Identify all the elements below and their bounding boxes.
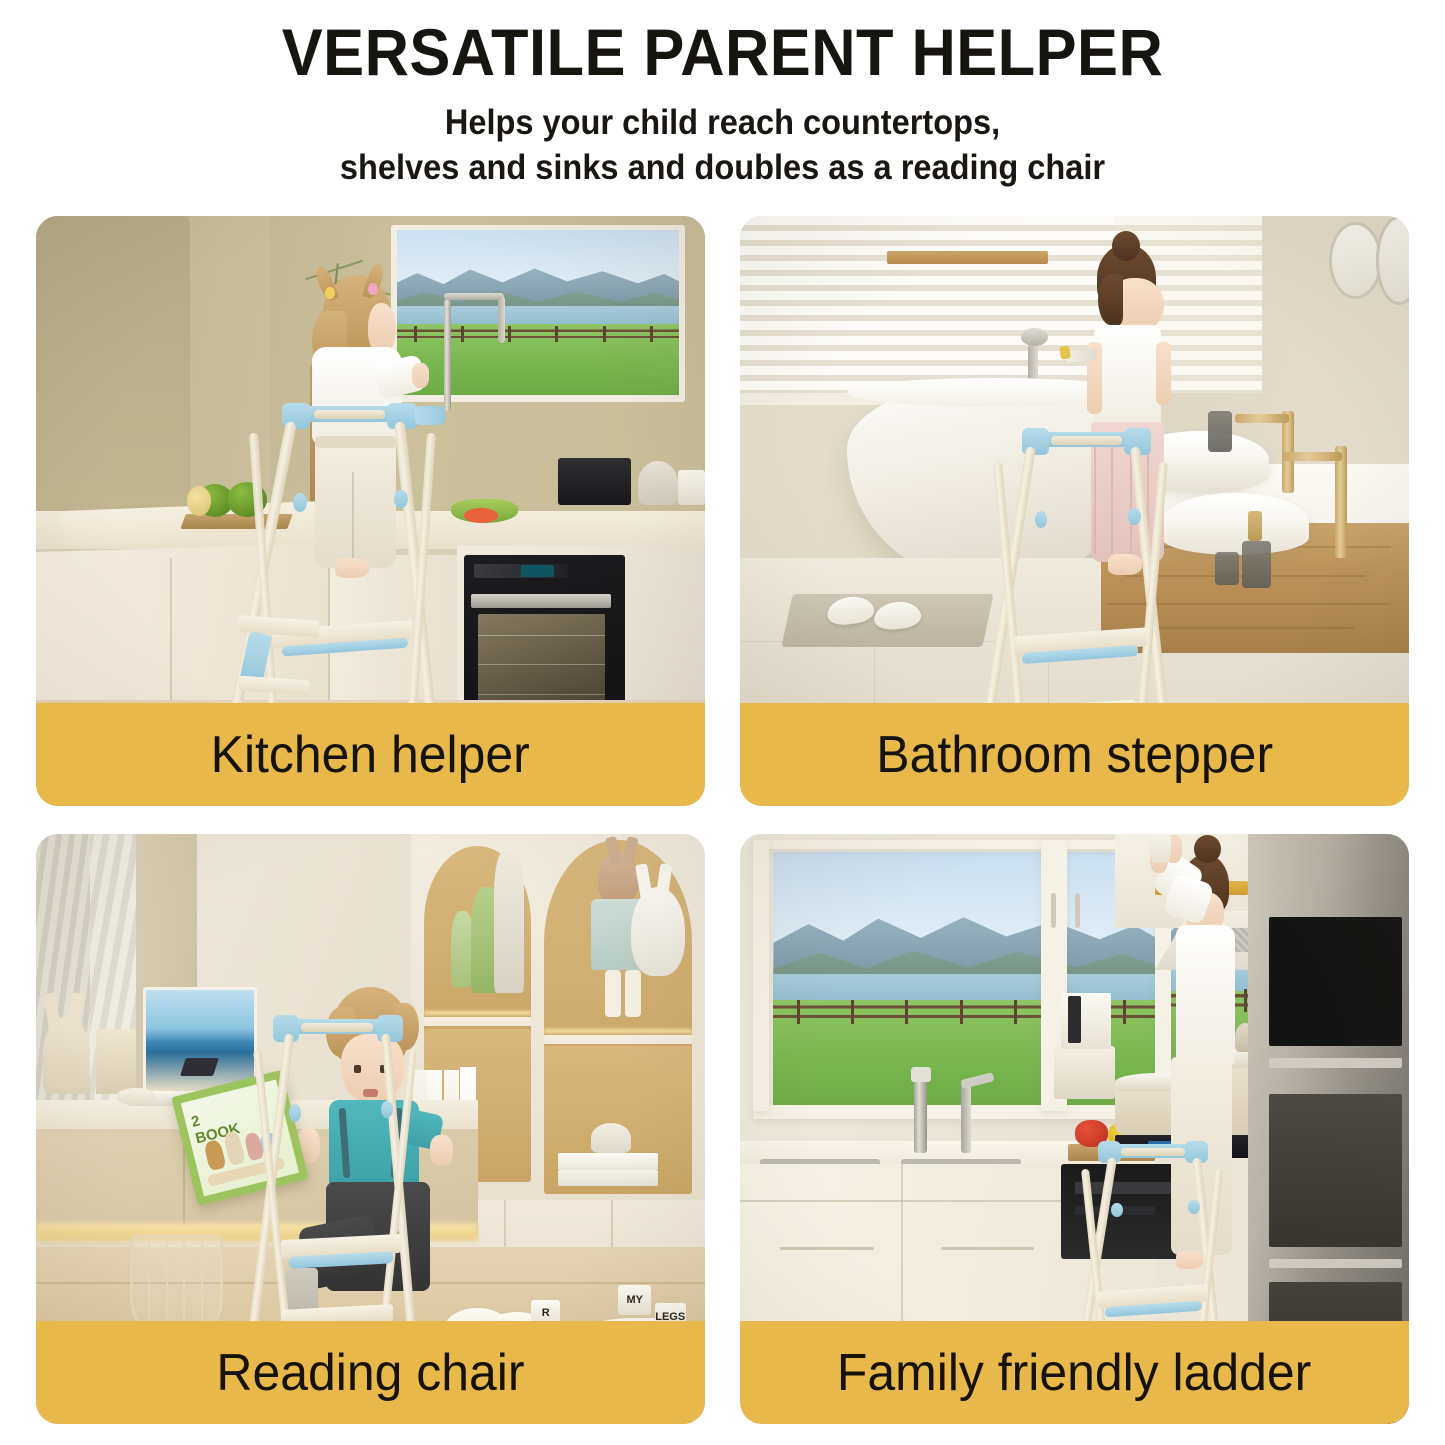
caption-text: Family friendly ladder [837, 1343, 1311, 1403]
page-subtitle: Helps your child reach countertops, shel… [51, 101, 1395, 191]
subtitle-line-2: shelves and sinks and doubles as a readi… [51, 146, 1395, 191]
panel-family-friendly-ladder[interactable]: Family friendly ladder [740, 834, 1409, 1424]
page-title: VERSATILE PARENT HELPER [51, 18, 1395, 87]
panel-reading-chair[interactable]: R MY LEGS [36, 834, 705, 1424]
caption-text: Kitchen helper [211, 725, 530, 785]
panel-kitchen-helper[interactable]: Kitchen helper [36, 216, 705, 806]
subtitle-line-1: Helps your child reach countertops, [51, 101, 1395, 146]
book-title: 2 BOOK [190, 1105, 233, 1133]
letter-block-2: MY [618, 1285, 651, 1315]
caption-family-friendly-ladder: Family friendly ladder [740, 1321, 1409, 1424]
faucet-front [1335, 446, 1347, 558]
caption-bathroom-stepper: Bathroom stepper [740, 703, 1409, 806]
mirror-left [1329, 222, 1383, 299]
caption-kitchen-helper: Kitchen helper [36, 703, 705, 806]
infographic-page: VERSATILE PARENT HELPER Helps your child… [0, 0, 1445, 1445]
panel-grid: Kitchen helper [36, 216, 1409, 1424]
header: VERSATILE PARENT HELPER Helps your child… [0, 0, 1445, 191]
caption-text: Reading chair [216, 1343, 524, 1403]
caption-text: Bathroom stepper [876, 725, 1273, 785]
panel-bathroom-stepper[interactable]: Bathroom stepper [740, 216, 1409, 806]
caption-reading-chair: Reading chair [36, 1321, 705, 1424]
